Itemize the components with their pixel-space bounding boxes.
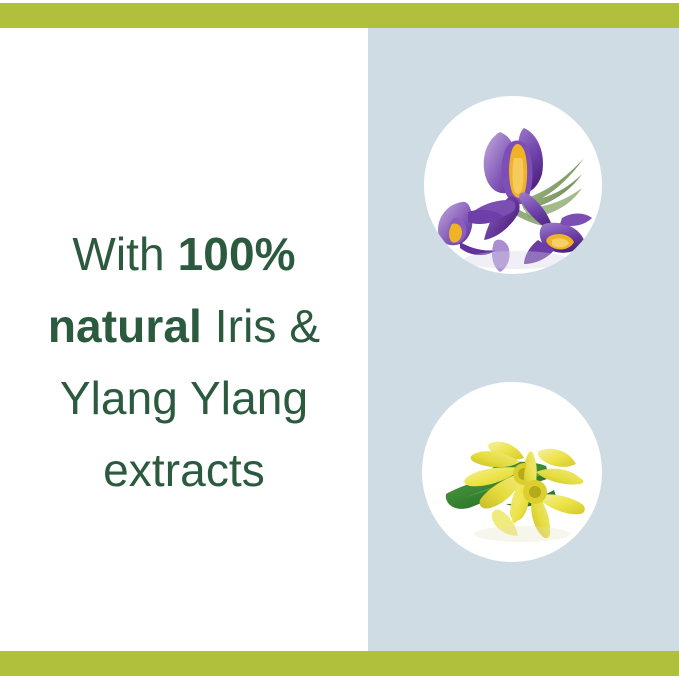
ylang-ylang-flower-medallion — [422, 382, 602, 562]
headline-line-1-prefix: With — [72, 228, 177, 280]
left-text-panel: With 100% natural Iris & Ylang Ylang ext… — [0, 28, 368, 651]
headline-line-2: natural Iris & — [8, 290, 360, 362]
bottom-accent-bar — [0, 651, 679, 676]
headline-block: With 100% natural Iris & Ylang Ylang ext… — [8, 218, 360, 506]
headline-line-4: extracts — [8, 434, 360, 506]
iris-flower-medallion — [424, 96, 602, 274]
ylang-ylang-flower-icon — [422, 382, 602, 562]
headline-line-3: Ylang Ylang — [8, 362, 360, 434]
headline-line-2-suffix: Iris & — [202, 300, 320, 352]
headline-line-2-emphasis: natural — [48, 300, 202, 352]
top-accent-bar — [0, 3, 679, 28]
headline-line-1: With 100% — [8, 218, 360, 290]
promo-banner: With 100% natural Iris & Ylang Ylang ext… — [0, 0, 679, 679]
iris-flower-icon — [424, 96, 602, 274]
headline-line-1-emphasis: 100% — [178, 228, 296, 280]
